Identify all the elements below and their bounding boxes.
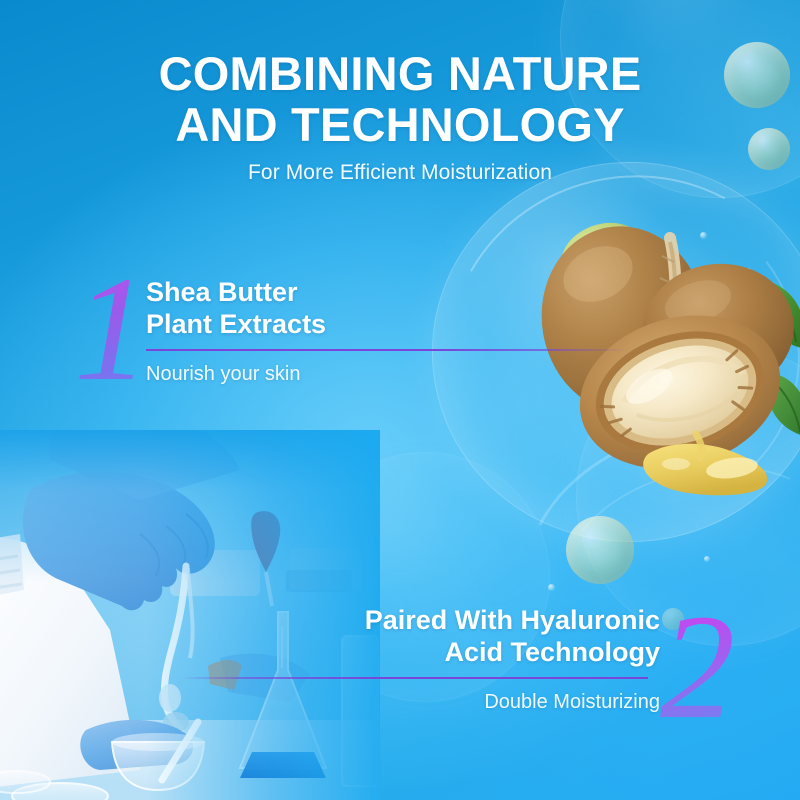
- feature-title-1-line-1: Shea Butter: [146, 276, 666, 308]
- feature-divider-1: [146, 349, 626, 351]
- feature-numeral-1: 1: [74, 254, 149, 404]
- feature-title-2-line-2: Acid Technology: [140, 636, 660, 668]
- feature-block-2: Paired With Hyaluronic Acid Technology D…: [140, 604, 660, 714]
- feature-block-1: Shea Butter Plant Extracts Nourish your …: [146, 276, 666, 386]
- feature-numeral-2: 2: [660, 592, 735, 742]
- feature-title-1-line-2: Plant Extracts: [146, 308, 666, 340]
- feature-title-2-line-1: Paired With Hyaluronic: [140, 604, 660, 636]
- headline-line-2: AND TECHNOLOGY: [0, 101, 800, 149]
- subheadline: For More Efficient Moisturization: [0, 161, 800, 185]
- water-droplet-icon: [548, 584, 555, 591]
- poster-canvas: COMBINING NATURE AND TECHNOLOGY For More…: [0, 0, 800, 800]
- water-droplet-icon: [704, 556, 710, 562]
- feature-caption-1: Nourish your skin: [146, 363, 666, 386]
- orb-bubble-icon: [566, 516, 634, 584]
- headline-line-1: COMBINING NATURE: [0, 50, 800, 98]
- feature-caption-2: Double Moisturizing: [140, 691, 660, 714]
- headline-block: COMBINING NATURE AND TECHNOLOGY For More…: [0, 50, 800, 185]
- feature-divider-2: [180, 677, 648, 679]
